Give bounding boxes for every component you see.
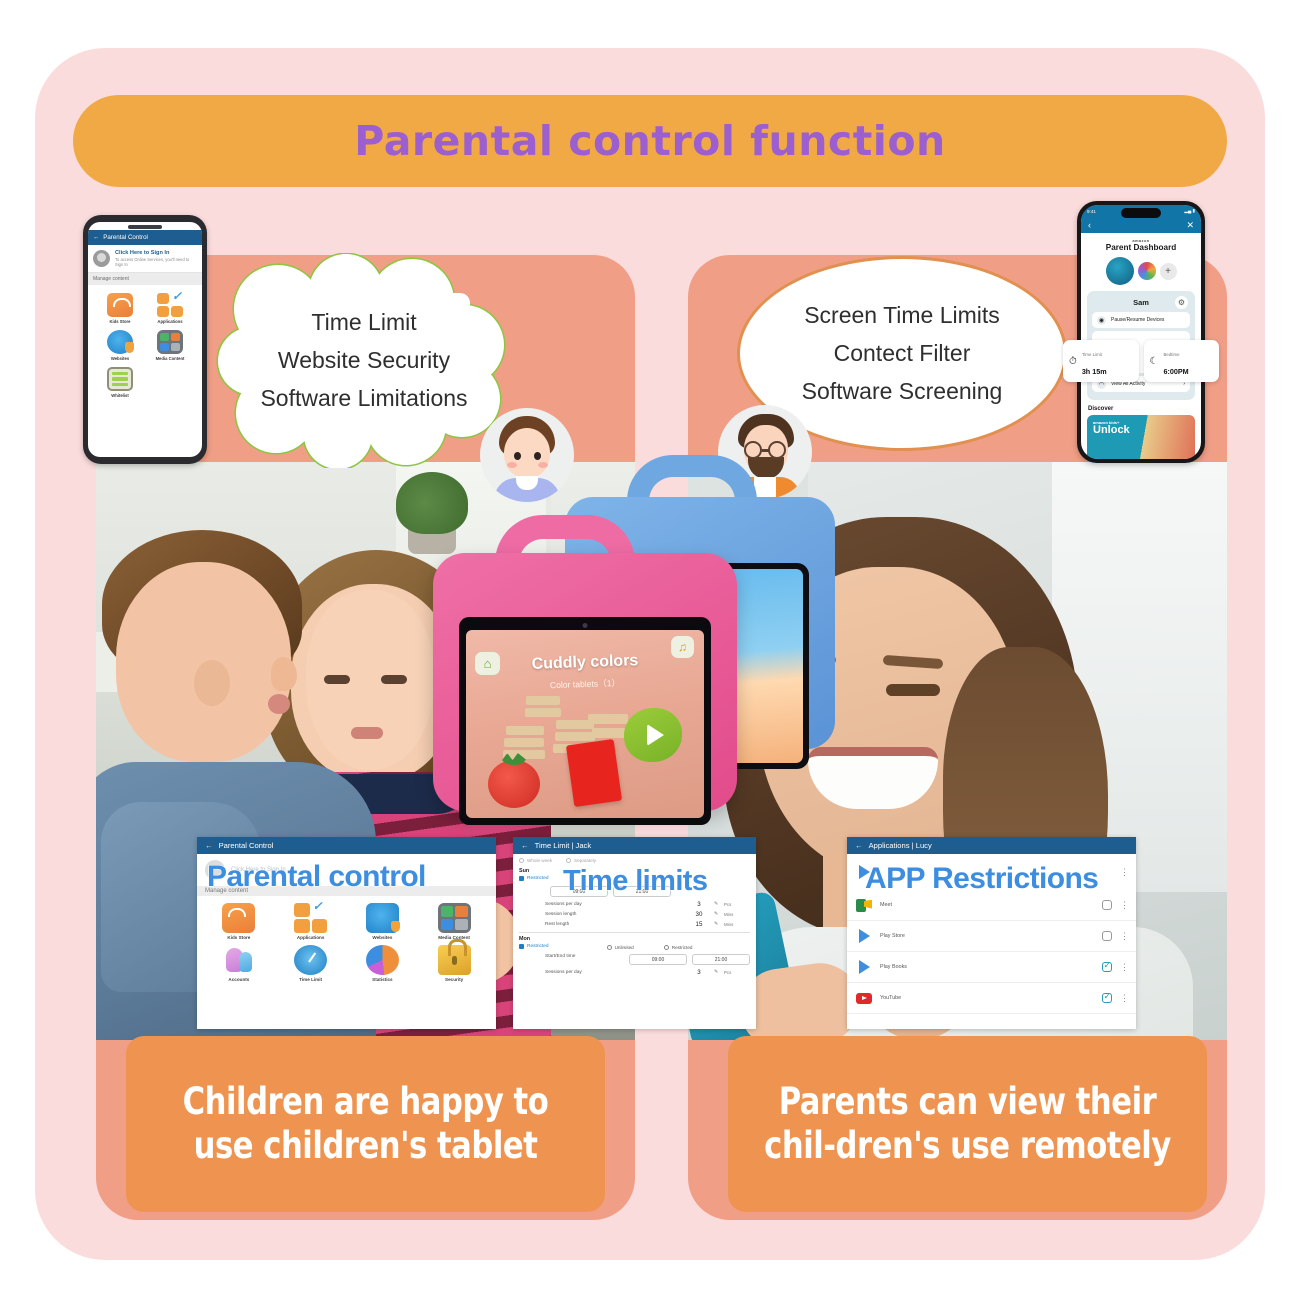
app-bar-title: Parental Control: [103, 234, 148, 241]
app-checkbox[interactable]: [1102, 962, 1112, 972]
time-limit-label: Time Limit: [1082, 352, 1102, 357]
more-vertical-icon[interactable]: ⋮: [1120, 931, 1128, 942]
field-session-length[interactable]: Session length 30 ✎ Mins: [519, 909, 750, 919]
meet-icon: [855, 897, 872, 914]
gear-icon[interactable]: ⚙: [1175, 296, 1188, 309]
promo-headline: Unlock: [1093, 425, 1189, 437]
app-name: Meet: [880, 902, 1094, 908]
field-value: 15: [684, 921, 714, 928]
avatar-cheek-left: [507, 462, 517, 468]
grid-item-label: Whitelist: [97, 393, 143, 398]
radio-label: Unlimited: [615, 945, 634, 950]
girl-mouth: [351, 727, 383, 739]
second-profile-avatar[interactable]: [1138, 262, 1156, 280]
grid-item-label: Applications: [275, 935, 347, 940]
shot-header-title: Applications | Lucy: [869, 841, 932, 850]
feature-line: Software Screening: [802, 378, 1003, 405]
field-value: 3: [684, 901, 714, 908]
grid-item-statistics[interactable]: Statistics: [347, 945, 419, 982]
signin-row[interactable]: Click Here to Sign In To access Online S…: [88, 245, 202, 273]
grid-item-time-limit[interactable]: Time Limit: [275, 945, 347, 982]
more-vertical-icon[interactable]: ⋮: [1120, 900, 1128, 911]
manage-content-grid: Kids Store Applications Websites Media C…: [88, 285, 202, 406]
shot-header: ← Time Limit | Jack: [513, 837, 756, 854]
statistics-icon: [366, 945, 399, 975]
youtube-icon: [855, 990, 872, 1007]
security-icon: [438, 945, 471, 975]
app-checkbox[interactable]: [1102, 900, 1112, 910]
grid-item-security[interactable]: Security: [418, 945, 490, 982]
time-limit-value: 3h 15m: [1082, 367, 1107, 376]
pink-tablet-case: ⌂ ♫ Cuddly colors Color tablets（1）: [433, 515, 737, 811]
field-unit: Pcs: [724, 970, 750, 975]
app-name: YouTube: [880, 995, 1094, 1001]
pause-icon: ◉: [1097, 316, 1106, 325]
glasses-bridge: [762, 449, 770, 452]
back-arrow-icon[interactable]: ←: [855, 841, 863, 850]
feature-line: Time Limit: [311, 309, 416, 336]
nav-bar: ‹ ✕: [1081, 217, 1201, 233]
grid-item-label: Media Content: [147, 356, 193, 361]
shot-overlay-label: Time limits: [563, 865, 756, 898]
grid-item-kids-store[interactable]: Kids Store: [97, 293, 143, 324]
stopwatch-icon: ⏱: [1069, 356, 1077, 367]
back-arrow-icon[interactable]: ←: [93, 234, 99, 241]
radio-restricted[interactable]: Restricted: [664, 945, 693, 950]
grid-item-applications[interactable]: Applications: [147, 293, 193, 324]
time-range-label: Start/End time: [545, 954, 624, 965]
feature-line: Screen Time Limits: [804, 302, 1000, 329]
time-limits-shot: ← Time Limit | Jack Whole week Separatel…: [513, 837, 756, 1029]
dynamic-island-icon: [1121, 208, 1161, 218]
accounts-icon: [222, 945, 255, 975]
grid-item-websites[interactable]: Websites: [347, 903, 419, 940]
bedtime-value: 6:00PM: [1163, 367, 1188, 376]
grid-item-whitelist[interactable]: Whitelist: [97, 367, 143, 398]
radio-unlimited[interactable]: Unlimited: [607, 945, 634, 950]
table-row[interactable]: YouTube ⋮: [847, 983, 1136, 1014]
tablet-body: ⌂ ♫ Cuddly colors Color tablets（1）: [433, 553, 737, 811]
play-store-icon: [855, 928, 872, 945]
page-title-banner: Parental control function: [73, 95, 1227, 187]
boy-ear: [194, 660, 230, 706]
status-time: 9:41: [1087, 209, 1096, 214]
grid-item-label: Accounts: [203, 977, 275, 982]
tomato-icon: [488, 760, 540, 808]
girl-eye-left: [324, 675, 350, 684]
radio-label: Restricted: [672, 945, 693, 950]
signin-subtitle: To access Online Services, you'll need t…: [115, 257, 197, 267]
feature-line: Website Security: [278, 347, 450, 374]
grid-item-media-content[interactable]: Media Content: [418, 903, 490, 940]
table-row[interactable]: Play Store ⋮: [847, 921, 1136, 952]
kids-store-icon: [222, 903, 255, 933]
edit-icon[interactable]: ✎: [714, 921, 724, 927]
play-books-icon: [855, 959, 872, 976]
red-color-card: [566, 739, 622, 807]
brand-title: Parent Dashboard: [1081, 243, 1201, 252]
field-label: Session length: [545, 912, 684, 917]
time-range-row-mon[interactable]: Start/End time 09:00 21:00: [519, 952, 750, 967]
brand-block: amazon Parent Dashboard: [1081, 233, 1201, 254]
shot-header: ← Parental Control: [197, 837, 496, 854]
field-sessions-per-day-mon[interactable]: Sessions per day 3 ✎ Pcs: [519, 967, 750, 977]
start-time-field[interactable]: 09:00: [629, 954, 687, 965]
parental-control-shot: ← Parental Control Click Here to Sign In…: [197, 837, 496, 1029]
grid-item-label: Websites: [347, 935, 419, 940]
mon-options[interactable]: Unlimited Restricted: [549, 945, 693, 950]
signin-title: Click Here to Sign In: [115, 250, 197, 256]
field-sessions-per-day[interactable]: Sessions per day 3 ✎ Pcs: [519, 899, 750, 909]
radio-label: Whole week: [527, 858, 552, 863]
bedtime-label: Bedtime: [1163, 352, 1179, 357]
left-caption: Children are happy to use children's tab…: [126, 1036, 605, 1212]
chevron-left-icon[interactable]: ‹: [1088, 220, 1091, 230]
restricted-label: Restricted: [527, 944, 549, 949]
back-arrow-icon[interactable]: ←: [205, 841, 213, 850]
field-label: Rest length: [545, 922, 684, 927]
moon-icon: ☾: [1150, 356, 1159, 367]
right-phone-mockup: 9:41 ▂▄ ▮ ‹ ✕ amazon Parent Dashboard + …: [1077, 201, 1205, 463]
boy-mouth: [268, 694, 290, 714]
grid-item-label: Kids Store: [97, 319, 143, 324]
shot-header-title: Time Limit | Jack: [535, 841, 592, 850]
close-icon[interactable]: ✕: [1186, 220, 1194, 231]
grid-item-kids-store[interactable]: Kids Store: [203, 903, 275, 940]
child-name-row: Sam ⚙: [1092, 296, 1190, 312]
grid-item-label: Security: [418, 977, 490, 982]
field-unit: Pcs: [724, 902, 750, 907]
field-unit: Mins: [724, 922, 750, 927]
bedtime-chip[interactable]: ☾ Bedtime 6:00PM: [1144, 340, 1220, 382]
more-vertical-icon[interactable]: ⋮: [1120, 962, 1128, 973]
avatar: [93, 250, 110, 267]
field-unit: Mins: [724, 912, 750, 917]
pause-resume-row[interactable]: ◉ Pause/Resume Devices: [1092, 312, 1190, 328]
restricted-label: Restricted: [527, 876, 549, 881]
camera-icon: [583, 623, 588, 628]
add-profile-button[interactable]: +: [1160, 263, 1177, 280]
applications-icon: [157, 293, 183, 317]
child-profile-avatar[interactable]: [1106, 257, 1134, 285]
app-title: Cuddly colors: [466, 650, 704, 676]
app-checkbox[interactable]: [1102, 993, 1112, 1003]
whitelist-icon: [107, 367, 133, 391]
grid-item-label: Websites: [97, 356, 143, 361]
avatar-eye-right: [534, 452, 541, 460]
media-content-icon: [438, 903, 471, 933]
play-button-icon[interactable]: [624, 708, 682, 762]
edit-icon[interactable]: ✎: [714, 969, 724, 975]
feature-line: Contect Filter: [834, 340, 971, 367]
back-arrow-icon[interactable]: ←: [521, 841, 529, 850]
app-name: Play Store: [880, 933, 1094, 939]
left-phone-screen: ← Parental Control Click Here to Sign In…: [88, 222, 202, 457]
app-name: Play Books: [880, 964, 1094, 970]
grid-item-applications[interactable]: Applications: [275, 903, 347, 940]
mother-eye-right: [886, 684, 940, 696]
field-value: 3: [684, 969, 714, 976]
more-vertical-icon[interactable]: ⋮: [1120, 993, 1128, 1004]
child-features-bubble: Time Limit Website Security Software Lim…: [216, 253, 512, 468]
signal-wifi-battery-icon: ▂▄ ▮: [1184, 208, 1195, 214]
grid-item-label: Time Limit: [275, 977, 347, 982]
radio-whole-week[interactable]: Whole week: [519, 858, 552, 863]
cuddly-colors-app: ⌂ ♫ Cuddly colors Color tablets（1）: [466, 630, 704, 818]
promo-banner[interactable]: amazon kids+ Unlock: [1087, 415, 1195, 459]
page-title: Parental control function: [354, 117, 945, 165]
avatar-face: [504, 428, 550, 478]
boy-avatar: [480, 408, 574, 502]
field-value: 30: [684, 911, 714, 918]
section-label: Manage content: [88, 273, 202, 285]
restricted-checkbox-mon[interactable]: Restricted: [519, 944, 549, 949]
time-limit-chip[interactable]: ⏱ Time Limit 3h 15m: [1063, 340, 1139, 382]
radio-label: Separately: [574, 858, 596, 863]
avatar-cheek-right: [538, 462, 548, 468]
manage-content-grid: Kids Store Applications Websites Media C…: [197, 896, 496, 989]
time-limit-icon: [294, 945, 327, 975]
grid-item-label: Kids Store: [203, 935, 275, 940]
grid-item-label: Statistics: [347, 977, 419, 982]
child-name: Sam: [1133, 298, 1149, 307]
websites-icon: [107, 330, 133, 354]
radio-separately[interactable]: Separately: [566, 858, 596, 863]
divider: [519, 932, 750, 933]
app-restrictions-shot: ← Applications | Lucy ⋮ Meet ⋮ Play Stor…: [847, 837, 1136, 1029]
grid-item-media-content[interactable]: Media Content: [147, 330, 193, 361]
right-caption-text: Parents can view their chil-dren's use r…: [760, 1080, 1175, 1167]
field-label: Sessions per day: [545, 902, 684, 907]
feature-line: Software Limitations: [260, 385, 467, 412]
shot-overlay-label: APP Restrictions: [865, 862, 1136, 896]
discover-label: Discover: [1081, 400, 1201, 415]
field-rest-length[interactable]: Rest length 15 ✎ Mins: [519, 919, 750, 929]
shot-header: ← Applications | Lucy: [847, 837, 1136, 854]
websites-icon: [366, 903, 399, 933]
grid-item-accounts[interactable]: Accounts: [203, 945, 275, 982]
right-caption: Parents can view their chil-dren's use r…: [728, 1036, 1207, 1212]
avatar-eye-left: [514, 452, 521, 460]
child-features-list: Time Limit Website Security Software Lim…: [216, 253, 512, 468]
table-row[interactable]: Play Books ⋮: [847, 952, 1136, 983]
girl-eye-right: [381, 675, 407, 684]
pause-resume-label: Pause/Resume Devices: [1111, 317, 1164, 323]
grid-item-websites[interactable]: Websites: [97, 330, 143, 361]
applications-icon: [294, 903, 327, 933]
end-time-field[interactable]: 21:00: [692, 954, 750, 965]
edit-icon[interactable]: ✎: [714, 901, 724, 907]
app-checkbox[interactable]: [1102, 931, 1112, 941]
kids-store-icon: [107, 293, 133, 317]
shot-header-title: Parental Control: [219, 841, 274, 850]
boy-nose: [271, 657, 297, 691]
profile-switcher[interactable]: +: [1081, 254, 1201, 291]
summary-chips: ⏱ Time Limit 3h 15m ☾ Bedtime 6:00PM: [1063, 340, 1219, 382]
app-bar: ← Parental Control: [88, 230, 202, 245]
phone-speaker-icon: [128, 225, 162, 229]
right-phone-screen: 9:41 ▂▄ ▮ ‹ ✕ amazon Parent Dashboard + …: [1081, 205, 1201, 459]
grid-item-label: Applications: [147, 319, 193, 324]
media-content-icon: [157, 330, 183, 354]
edit-icon[interactable]: ✎: [714, 911, 724, 917]
field-label: Sessions per day: [545, 970, 684, 975]
left-phone-mockup: ← Parental Control Click Here to Sign In…: [83, 215, 207, 464]
shot-overlay-label: Parental control: [207, 860, 496, 894]
tablet-screen: ⌂ ♫ Cuddly colors Color tablets（1）: [459, 617, 711, 825]
left-caption-text: Children are happy to use children's tab…: [158, 1080, 573, 1167]
